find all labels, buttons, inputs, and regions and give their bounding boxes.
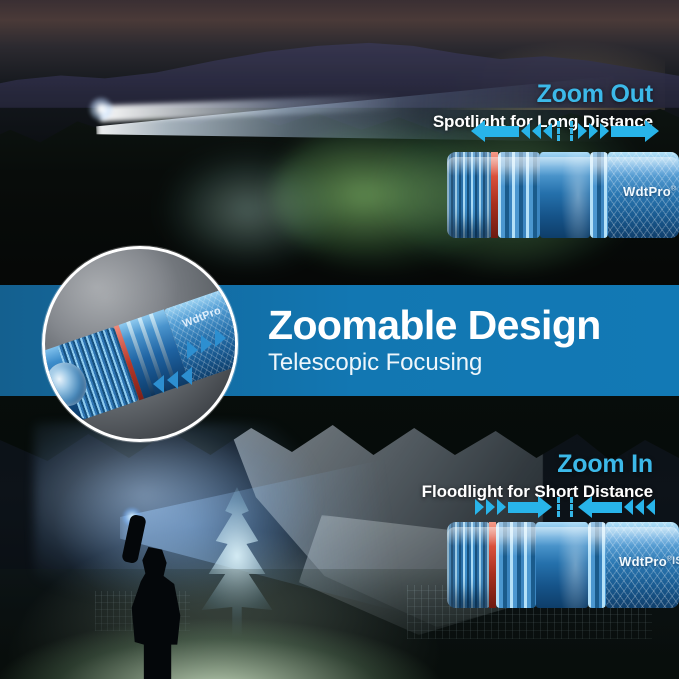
arrow-right-shaft xyxy=(592,502,622,513)
dashed-divider-right xyxy=(570,121,573,141)
chevron-right-icon xyxy=(475,499,484,515)
product-closeup-circle: WdtPro xyxy=(42,246,238,442)
dashed-divider-left xyxy=(557,497,560,517)
flashlight-head xyxy=(447,522,491,608)
arrow-right-inward xyxy=(578,496,670,518)
banner-subtitle: Telescopic Focusing xyxy=(268,350,668,376)
arrow-right-head-icon xyxy=(538,496,552,518)
zoom-out-arrow-row xyxy=(460,118,670,144)
flashlight-mid-ring xyxy=(588,522,606,608)
flashlight-model-text: IS xyxy=(672,555,679,567)
chevron-right-icon xyxy=(600,123,609,139)
arrow-left-inward xyxy=(460,496,552,518)
flashlight-focus-collar xyxy=(498,152,540,238)
flashlight-head xyxy=(447,152,493,238)
focus-chevron-right-icon xyxy=(215,329,226,347)
banner-text-block: Zoomable Design Telescopic Focusing xyxy=(268,286,668,396)
flashlight-brand-logo: WdtPro® xyxy=(623,184,676,199)
flashlight-cone-section xyxy=(540,152,590,238)
arrow-left-head-icon xyxy=(471,120,485,142)
flashlight-red-ring xyxy=(489,522,496,608)
zoom-in-heading: Zoom In xyxy=(193,450,653,479)
focus-chevron-right-icon xyxy=(201,335,212,353)
chevron-right-icon xyxy=(589,123,598,139)
chevron-right-icon xyxy=(486,499,495,515)
flashlight-brand-logo: WdtPro® xyxy=(619,554,672,569)
dashed-divider-left xyxy=(557,121,560,141)
chevron-left-icon xyxy=(521,123,530,139)
flashlight-zoom-in: WdtPro® IS xyxy=(447,522,679,608)
chevron-right-icon xyxy=(578,123,587,139)
arrow-left-outward xyxy=(460,120,552,142)
chevron-left-icon xyxy=(532,123,541,139)
chevron-left-icon xyxy=(624,499,633,515)
arrow-left-shaft xyxy=(508,502,538,513)
focus-chevron-right-icon xyxy=(187,341,198,359)
arrow-right-shaft xyxy=(611,126,645,137)
spotlight-source-glow xyxy=(88,96,114,122)
chevron-left-icon xyxy=(646,499,655,515)
arrow-left-shaft xyxy=(485,126,519,137)
arrow-left-head-icon xyxy=(578,496,592,518)
focus-chevron-left-icon xyxy=(167,371,178,389)
zoom-in-arrow-row xyxy=(460,494,670,520)
flashlight-zoom-out: WdtPro® xyxy=(447,152,679,238)
product-marketing-image: Zoom Out Spotlight for Long Distance xyxy=(0,0,679,679)
flashlight-cone-section xyxy=(536,522,588,608)
top-scene-night-mountain xyxy=(0,0,679,290)
banner-title: Zoomable Design xyxy=(268,305,668,347)
focus-chevron-left-icon xyxy=(181,367,192,385)
arrow-right-head-icon xyxy=(645,120,659,142)
arrow-right-outward xyxy=(578,120,670,142)
focus-chevron-left-icon xyxy=(153,375,164,393)
flashlight-mid-ring xyxy=(590,152,608,238)
flashlight-focus-collar xyxy=(496,522,536,608)
zoom-out-heading: Zoom Out xyxy=(233,80,653,109)
chevron-left-icon xyxy=(543,123,552,139)
dashed-divider-right xyxy=(570,497,573,517)
chevron-left-icon xyxy=(635,499,644,515)
flashlight-red-ring xyxy=(491,152,498,238)
chevron-right-icon xyxy=(497,499,506,515)
